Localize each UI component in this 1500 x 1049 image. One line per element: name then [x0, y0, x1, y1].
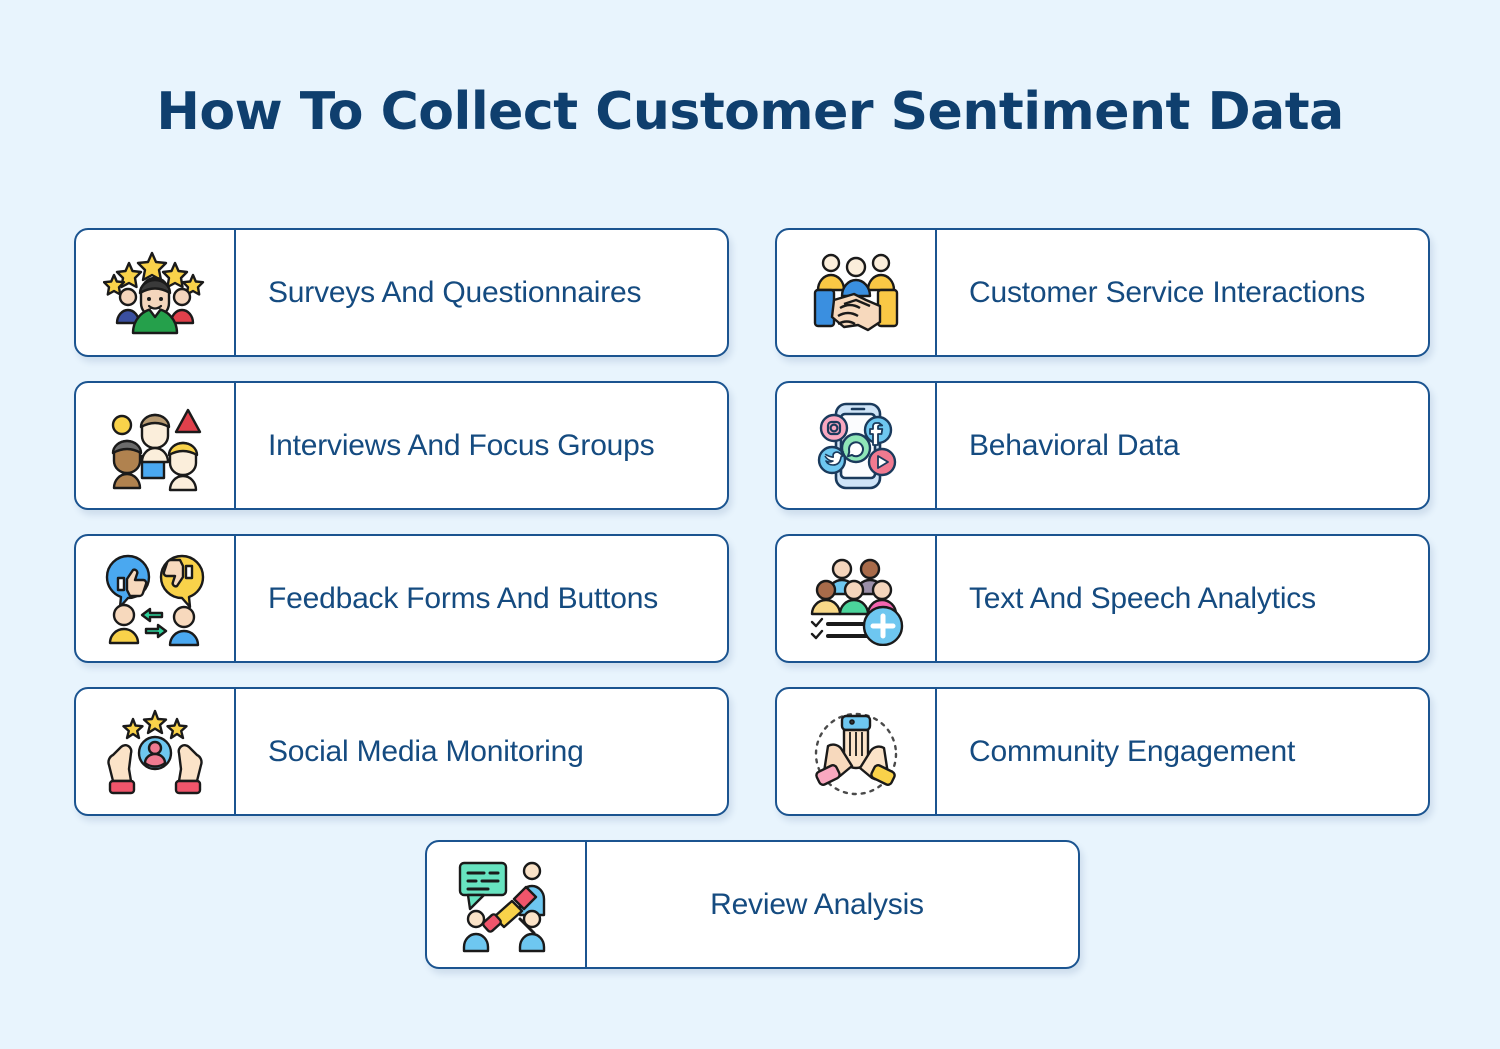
- stacked-hands-icon: [777, 689, 937, 814]
- smartphone-social-icons-icon: [777, 383, 937, 508]
- focus-group-shapes-icon: [76, 383, 236, 508]
- card-surveys-and-questionnaires[interactable]: Surveys And Questionnaires: [74, 228, 729, 357]
- card-interviews-and-focus-groups[interactable]: Interviews And Focus Groups: [74, 381, 729, 510]
- card-label: Social Media Monitoring: [236, 689, 727, 814]
- megaphone-speech-people-icon: [427, 842, 587, 967]
- card-community-engagement[interactable]: Community Engagement: [775, 687, 1430, 816]
- card-label: Surveys And Questionnaires: [236, 230, 727, 355]
- card-row: Social Media Monitoring: [74, 687, 1430, 816]
- card-row: Surveys And Questionnaires: [74, 228, 1430, 357]
- card-row: Feedback Forms And Buttons: [74, 534, 1430, 663]
- card-review-analysis[interactable]: Review Analysis: [425, 840, 1080, 969]
- card-label: Customer Service Interactions: [937, 230, 1428, 355]
- infographic-page: How To Collect Customer Sentiment Data: [0, 0, 1500, 1049]
- handshake-team-icon: [777, 230, 937, 355]
- page-title: How To Collect Customer Sentiment Data: [0, 82, 1500, 142]
- card-label: Text And Speech Analytics: [937, 536, 1428, 661]
- card-feedback-forms-and-buttons[interactable]: Feedback Forms And Buttons: [74, 534, 729, 663]
- card-label: Interviews And Focus Groups: [236, 383, 727, 508]
- card-row: Interviews And Focus Groups: [74, 381, 1430, 510]
- card-social-media-monitoring[interactable]: Social Media Monitoring: [74, 687, 729, 816]
- card-label: Behavioral Data: [937, 383, 1428, 508]
- hands-avatar-stars-icon: [76, 689, 236, 814]
- card-behavioral-data[interactable]: Behavioral Data: [775, 381, 1430, 510]
- card-label: Feedback Forms And Buttons: [236, 536, 727, 661]
- card-text-and-speech-analytics[interactable]: Text And Speech Analytics: [775, 534, 1430, 663]
- card-customer-service-interactions[interactable]: Customer Service Interactions: [775, 228, 1430, 357]
- group-checklist-plus-icon: [777, 536, 937, 661]
- card-row-final: Review Analysis: [74, 840, 1430, 969]
- cards-grid: Surveys And Questionnaires: [74, 228, 1430, 969]
- people-five-stars-icon: [76, 230, 236, 355]
- card-label: Community Engagement: [937, 689, 1428, 814]
- thumbs-up-down-exchange-icon: [76, 536, 236, 661]
- card-label: Review Analysis: [587, 842, 1078, 967]
